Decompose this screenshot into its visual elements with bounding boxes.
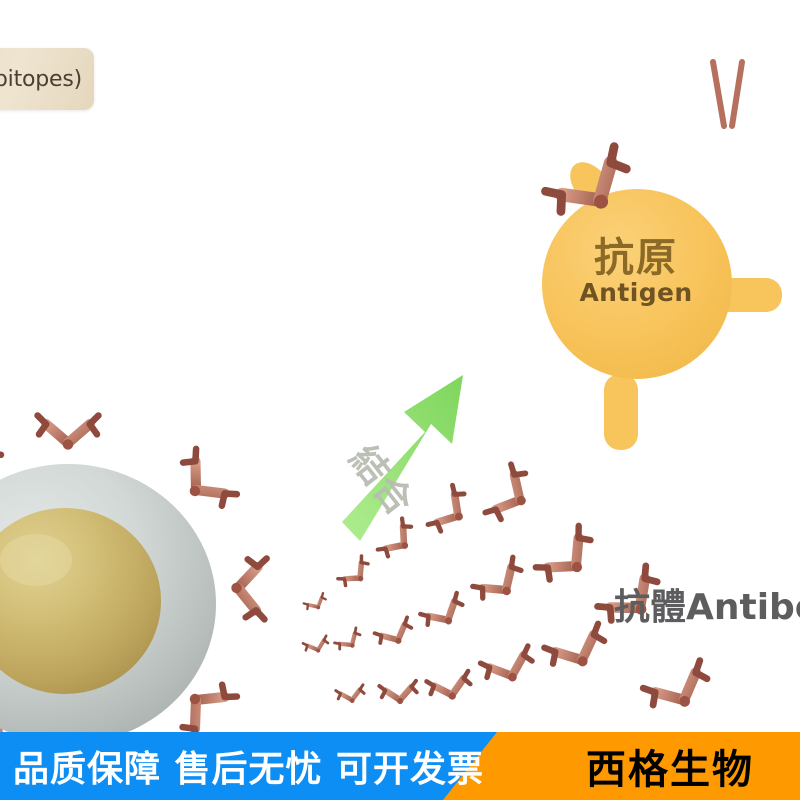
antibody-icon xyxy=(544,624,618,694)
antibody-icon xyxy=(304,593,332,620)
bottom-banner: 品质保障 售后无忧 可开发票 西格生物 xyxy=(0,732,800,800)
antibody-label: 抗體Antibo xyxy=(614,578,800,630)
antibody-icon xyxy=(427,671,477,717)
antibody-icon xyxy=(338,556,381,599)
antigen-group xyxy=(542,162,782,450)
antibody-icon xyxy=(379,681,420,718)
banner-slogan: 品质保障 售后无忧 可开发票 xyxy=(0,732,497,800)
antibody-icon xyxy=(536,526,614,604)
antibody-icon xyxy=(473,557,538,620)
diagram-canvas: Epitopes) xyxy=(0,0,800,800)
antibody-icon xyxy=(485,464,552,534)
antibody-icon xyxy=(303,636,333,663)
antibody-icon xyxy=(428,485,486,545)
antibody-icon xyxy=(336,685,368,714)
antibody-icon xyxy=(420,593,474,645)
antibody-icon xyxy=(481,646,543,704)
antibody-icon xyxy=(643,661,723,737)
antibody-icon xyxy=(335,628,369,661)
antigen-body xyxy=(542,189,732,379)
antibody-icon xyxy=(375,617,421,661)
banner-brand: 西格生物 xyxy=(540,732,800,800)
antibody-icon xyxy=(378,518,429,570)
b-cell-receptor-icon xyxy=(38,415,99,467)
antigen-epitope-bump-icon xyxy=(604,374,638,450)
